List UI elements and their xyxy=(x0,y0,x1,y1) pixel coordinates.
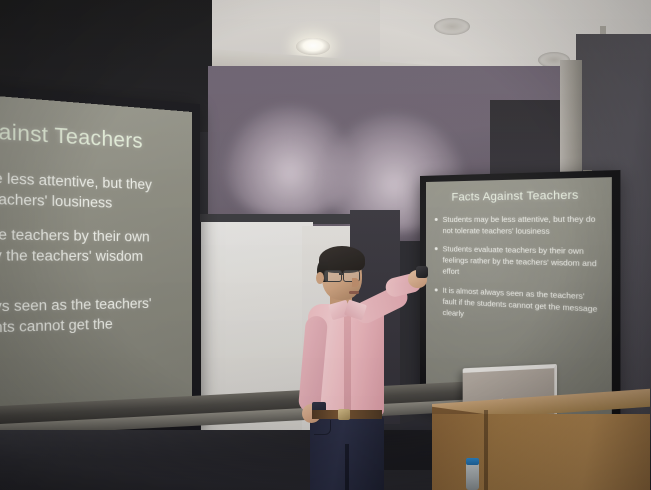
water-bottle[interactable] xyxy=(466,462,479,490)
presenter xyxy=(300,244,420,490)
list-item: It is almost always seen as the teachers… xyxy=(434,284,600,327)
presenter-mouth xyxy=(349,291,359,294)
projection-screen-left: gainst Teachers be less attentive, but t… xyxy=(0,94,192,437)
clicker-remote[interactable] xyxy=(416,266,428,278)
trouser-pocket xyxy=(314,420,331,435)
slide-left-title: gainst Teachers xyxy=(0,119,182,156)
glasses-lens-left xyxy=(324,270,342,282)
lectern xyxy=(432,414,650,490)
list-item: Students evaluate teachers by their own … xyxy=(434,243,600,282)
glasses-bridge xyxy=(339,273,344,275)
trouser-seam xyxy=(345,444,349,490)
slide-right-content: Facts Against Teachers Students may be l… xyxy=(426,177,612,328)
slide-left-line: ate teachers by their own xyxy=(0,224,182,247)
slide-left-line: by the teachers' wisdom xyxy=(0,245,182,266)
presenter-ear xyxy=(316,272,324,284)
list-item: Students may be less attentive, but they… xyxy=(434,213,600,238)
shirt-placket xyxy=(344,306,351,414)
slide-right-bullet-list: Students may be less attentive, but they… xyxy=(434,213,600,327)
slide-right-title: Facts Against Teachers xyxy=(434,189,600,204)
downlight-icon xyxy=(434,18,470,35)
lecture-hall-photo: gainst Teachers be less attentive, but t… xyxy=(0,0,651,490)
presenter-nose xyxy=(352,278,359,287)
slide-left-content: gainst Teachers be less attentive, but t… xyxy=(0,94,192,359)
belt-buckle xyxy=(338,409,350,420)
lectern-edge xyxy=(484,410,488,490)
downlight-icon xyxy=(296,38,330,55)
bottle-cap[interactable] xyxy=(466,458,479,465)
